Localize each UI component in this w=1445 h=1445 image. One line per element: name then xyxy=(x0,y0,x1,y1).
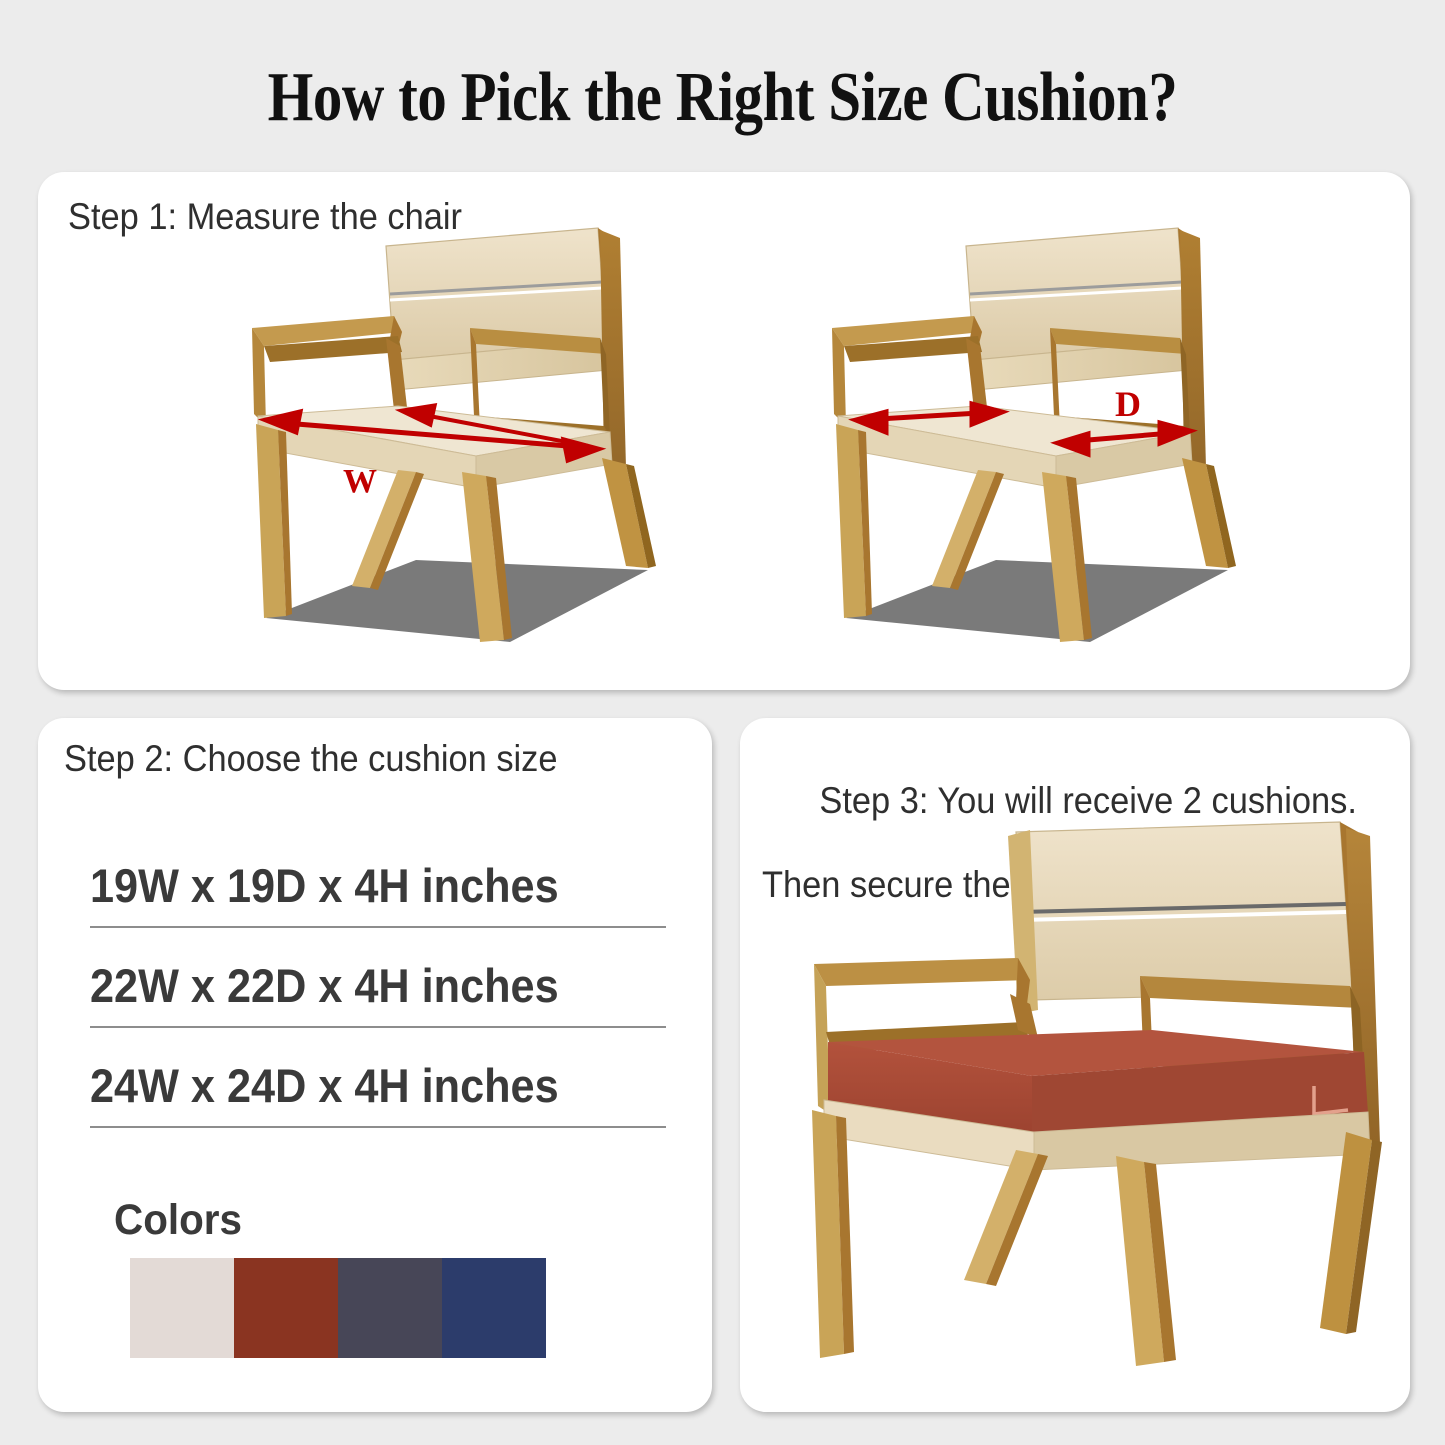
floor-shadow xyxy=(266,560,648,642)
depth-label: D xyxy=(1115,384,1141,424)
size-divider xyxy=(90,926,666,928)
chair-with-cushion-diagram xyxy=(780,814,1400,1389)
infographic-page: How to Pick the Right Size Cushion? Step… xyxy=(0,0,1445,1445)
floor-shadow xyxy=(846,560,1228,642)
color-swatch-rust-red[interactable] xyxy=(234,1258,338,1358)
color-swatch-slate-gray[interactable] xyxy=(338,1258,442,1358)
size-divider xyxy=(90,1026,666,1028)
size-option-row[interactable]: 22W x 22D x 4H inches xyxy=(90,958,670,1058)
color-swatch-navy-blue[interactable] xyxy=(442,1258,546,1358)
size-divider xyxy=(90,1126,666,1128)
step-1-card: Step 1: Measure the chair xyxy=(38,172,1410,690)
chair-depth-diagram: D xyxy=(828,220,1248,670)
armrest-left xyxy=(814,958,1030,986)
size-option-row[interactable]: 19W x 19D x 4H inches xyxy=(90,858,670,958)
cushion-size-list: 19W x 19D x 4H inches 22W x 22D x 4H inc… xyxy=(90,858,670,1158)
color-swatch-cream[interactable] xyxy=(130,1258,234,1358)
color-swatch-bar xyxy=(130,1258,546,1358)
width-label: W xyxy=(343,463,377,500)
step-2-heading: Step 2: Choose the cushion size xyxy=(64,738,558,780)
size-option-label: 24W x 24D x 4H inches xyxy=(90,1058,559,1113)
colors-heading: Colors xyxy=(114,1196,242,1245)
step-2-card: Step 2: Choose the cushion size 19W x 19… xyxy=(38,718,712,1412)
page-title: How to Pick the Right Size Cushion? xyxy=(116,58,1330,138)
step-3-card: Step 3: You will receive 2 cushions. The… xyxy=(740,718,1410,1412)
size-option-label: 22W x 22D x 4H inches xyxy=(90,958,559,1013)
size-option-label: 19W x 19D x 4H inches xyxy=(90,858,559,913)
size-option-row[interactable]: 24W x 24D x 4H inches xyxy=(90,1058,670,1158)
chair-width-diagram: W xyxy=(248,220,668,670)
